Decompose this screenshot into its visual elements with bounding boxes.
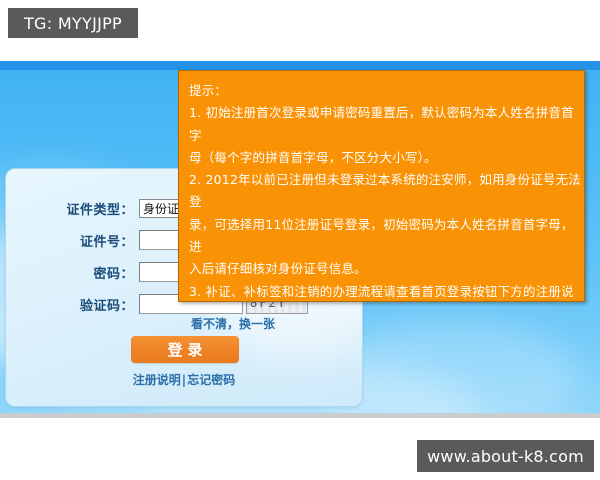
tip-popup-panel: 提示： 1. 初始注册首次登录或申请密码重置后，默认密码为本人姓名拼音首 字 母… xyxy=(178,70,585,302)
tip-line: 入后请仔细核对身份证号信息。 xyxy=(189,258,574,280)
page-root: 证件类型： 身份证 证件号： 密码： 验证码： 8F2Y 看不清，换一张 登录 … xyxy=(0,0,600,480)
login-footer-links: 注册说明|忘记密码 xyxy=(6,371,362,388)
label-id-number: 证件号： xyxy=(6,231,139,250)
label-id-type: 证件类型： xyxy=(6,199,139,218)
login-submit-button[interactable]: 登录 xyxy=(131,336,239,363)
label-captcha: 验证码： xyxy=(6,295,139,314)
site-header-band xyxy=(0,61,600,70)
tip-line: 1. 初始注册首次登录或申请密码重置后，默认密码为本人姓名拼音首 xyxy=(189,102,574,124)
refresh-captcha-link[interactable]: 看不清，换一张 xyxy=(191,315,275,332)
tip-line: 进 xyxy=(189,236,574,258)
tip-line: 2. 2012年以前已注册但未登录过本系统的注安师，如用身份证号无法 xyxy=(189,169,574,191)
tip-title: 提示： xyxy=(189,80,574,102)
watermark-bottom-right: www.about-k8.com xyxy=(417,440,594,472)
tip-line: 母（每个字的拼音首字母，不区分大小写）。 xyxy=(189,147,574,169)
register-instructions-link[interactable]: 注册说明 xyxy=(133,373,181,387)
tip-line: 字 xyxy=(189,125,574,147)
tip-line: 登 xyxy=(189,191,574,213)
forgot-password-link[interactable]: 忘记密码 xyxy=(187,373,235,387)
watermark-top-left: TG: MYYJJPP xyxy=(8,8,138,38)
tip-line: 3. 补证、补标签和注销的办理流程请查看首页登录按钮下方的注册说 xyxy=(189,281,574,302)
label-password: 密码： xyxy=(6,263,139,282)
tip-line: 录，可选择用11位注册证号登录，初始密码为本人姓名拼音首字母， xyxy=(189,214,574,236)
